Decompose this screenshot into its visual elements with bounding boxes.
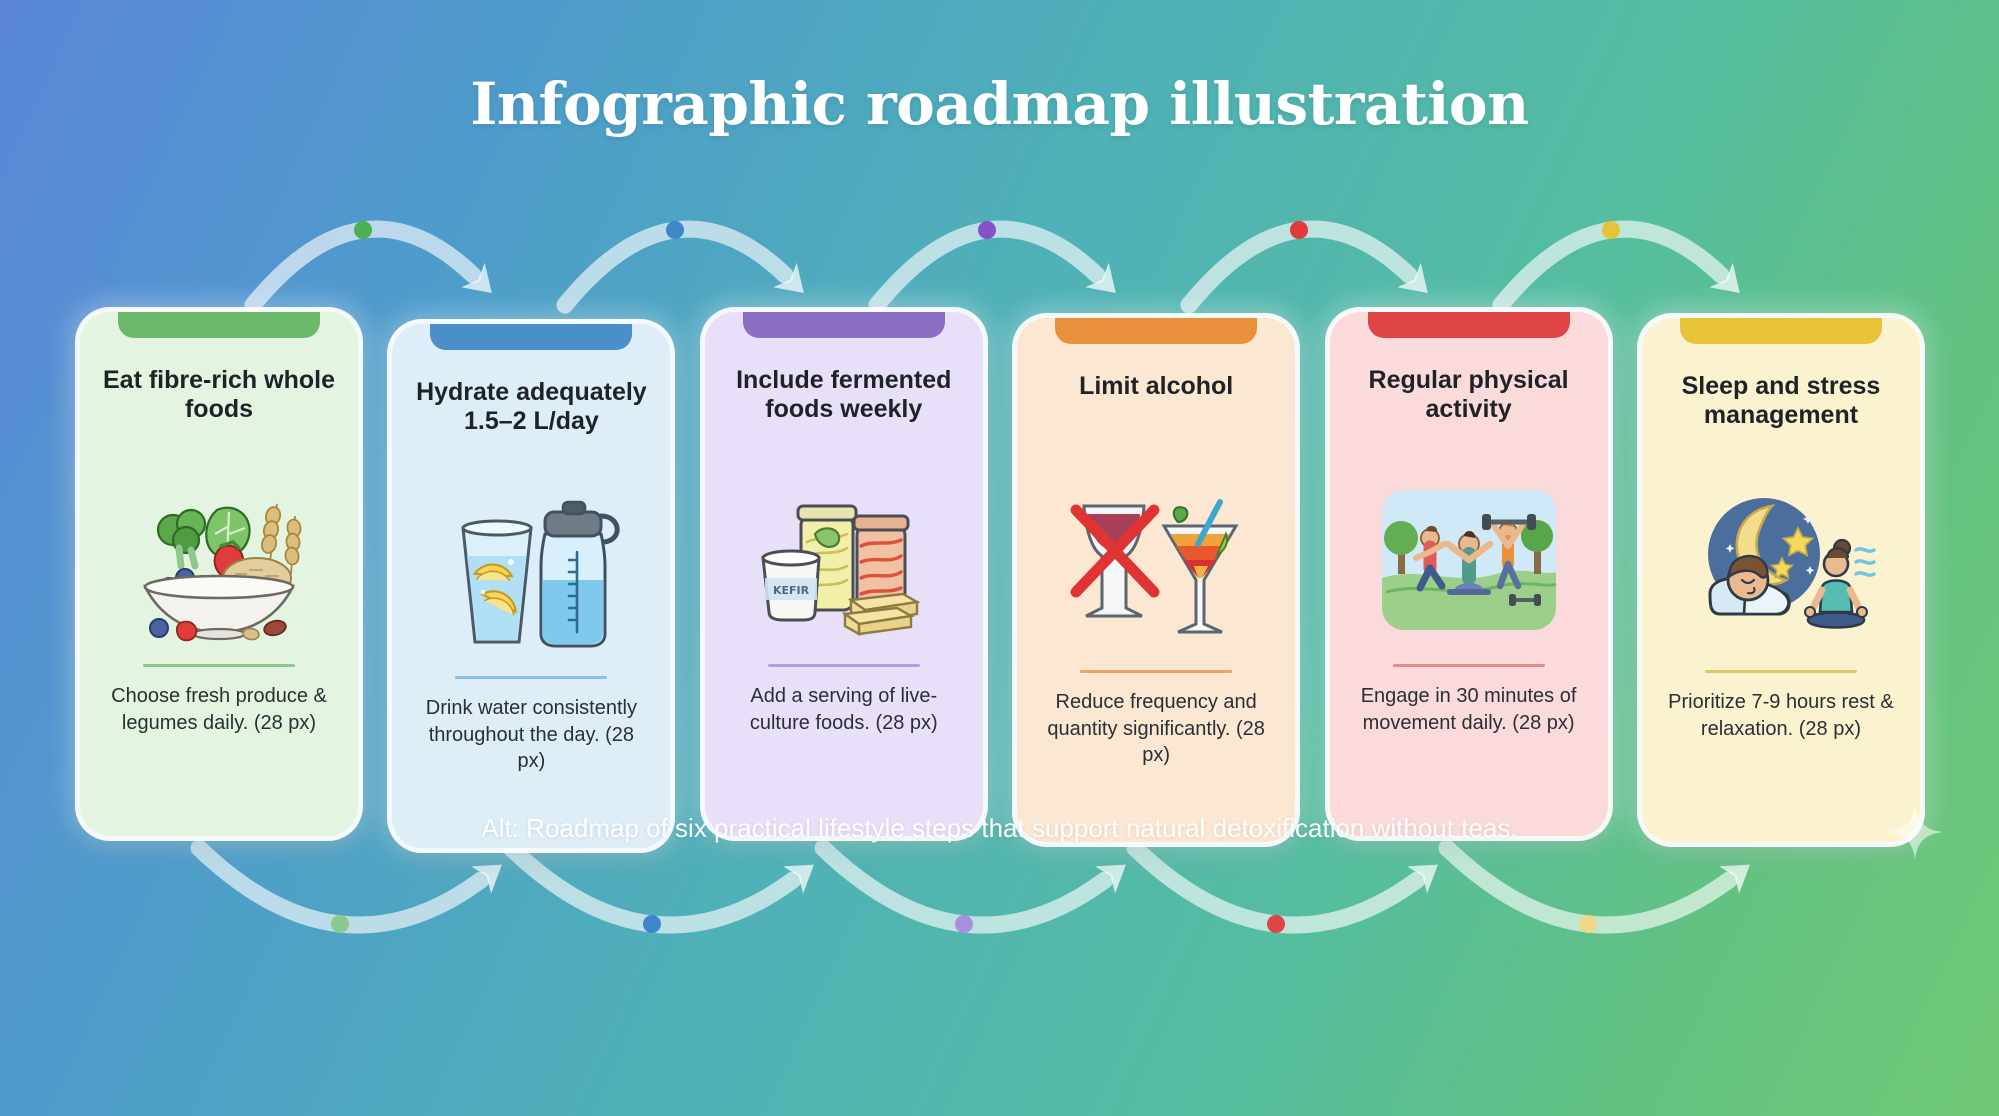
step-body-2: Drink water consistently throughout the … [392, 695, 670, 775]
bowl-of-produce-icon [80, 472, 358, 652]
sleep-and-meditation-icon [1642, 478, 1920, 658]
step-title-3: Include fermented foods weekly [705, 366, 983, 472]
step-body-1: Choose fresh produce & legumes daily. (2… [80, 683, 358, 736]
step-body-6: Prioritize 7-9 hours rest & relaxation. … [1642, 689, 1920, 742]
roadmap-steps-row: Eat fibre-rich whole foods [80, 312, 1920, 842]
step-title-1: Eat fibre-rich whole foods [80, 366, 358, 472]
step-title-4: Limit alcohol [1063, 372, 1249, 478]
step-divider-1 [143, 664, 295, 667]
step-divider-3 [768, 664, 920, 667]
exercise-people-icon [1330, 472, 1608, 652]
step-card-3[interactable]: Include fermented foods weekly KEFIR [705, 312, 983, 836]
step-card-5[interactable]: Regular physical activity [1330, 312, 1608, 836]
step-card-6[interactable]: Sleep and stress management [1642, 318, 1920, 842]
step-accent-bar-5 [1330, 312, 1608, 338]
step-accent-bar-2 [392, 324, 670, 350]
step-divider-4 [1080, 670, 1232, 673]
fermented-foods-icon: KEFIR [705, 472, 983, 652]
step-body-5: Engage in 30 minutes of movement daily. … [1330, 683, 1608, 736]
svg-text:KEFIR: KEFIR [773, 584, 810, 597]
step-title-2: Hydrate adequately 1.5–2 L/day [392, 378, 670, 484]
step-divider-2 [455, 676, 607, 679]
step-divider-5 [1393, 664, 1545, 667]
step-card-1[interactable]: Eat fibre-rich whole foods [80, 312, 358, 836]
page-title: Infographic roadmap illustration [0, 70, 1999, 138]
step-divider-6 [1705, 670, 1857, 673]
water-glass-and-bottle-icon [392, 484, 670, 664]
step-body-3: Add a serving of live-culture foods. (28… [705, 683, 983, 736]
top-connectors [253, 221, 1752, 305]
step-body-4: Reduce frequency and quantity significan… [1017, 689, 1295, 769]
step-accent-bar-3 [705, 312, 983, 338]
alt-caption: Alt: Roadmap of six practical lifestyle … [0, 813, 1999, 844]
step-accent-bar-4 [1017, 318, 1295, 344]
step-accent-bar-6 [1642, 318, 1920, 344]
step-title-5: Regular physical activity [1330, 366, 1608, 472]
step-title-6: Sleep and stress management [1642, 372, 1920, 478]
step-accent-bar-1 [80, 312, 358, 338]
step-card-4[interactable]: Limit alcohol [1017, 318, 1295, 842]
step-card-2[interactable]: Hydrate adequately 1.5–2 L/day [392, 324, 670, 848]
sparkle-icon [1883, 800, 1947, 864]
bottom-connectors [199, 848, 1760, 933]
alcohol-limit-icon [1017, 478, 1295, 658]
